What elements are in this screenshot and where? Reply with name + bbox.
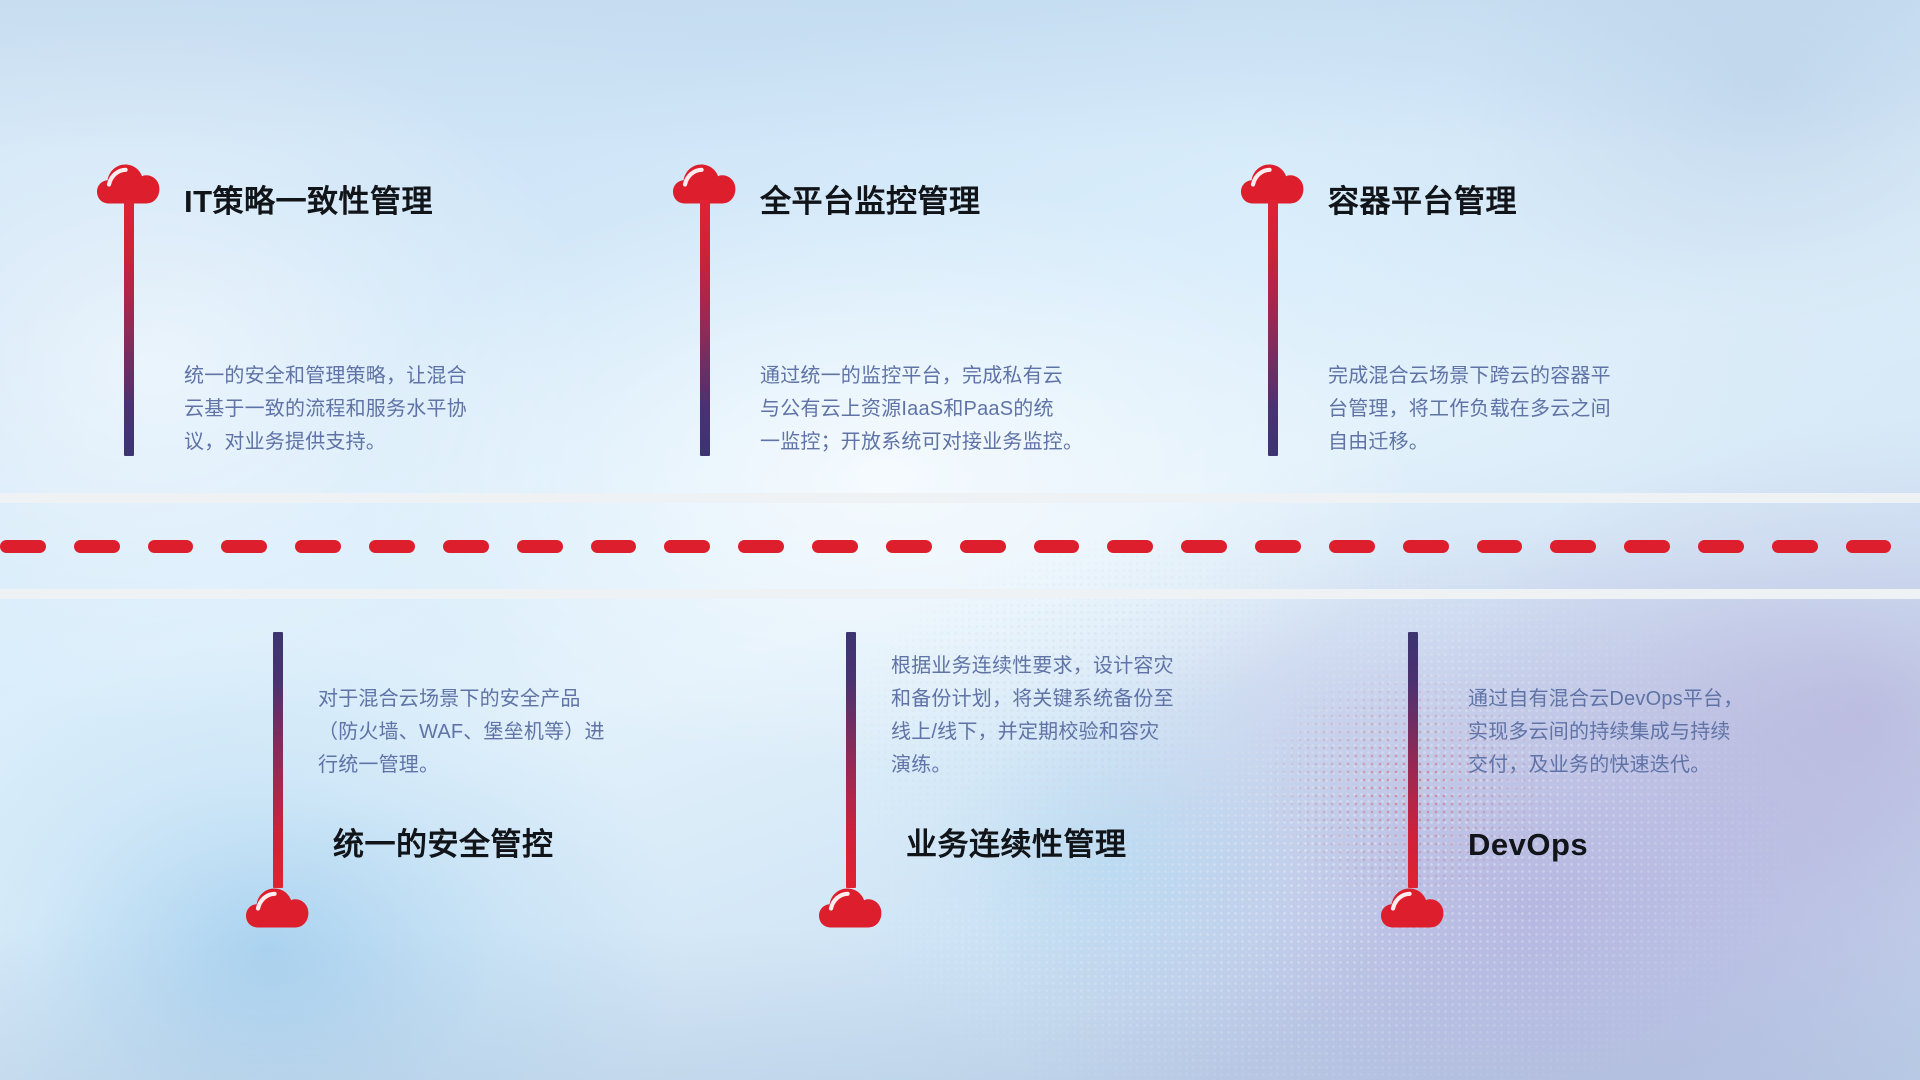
description-devops: 通过自有混合云DevOps平台， 实现多云间的持续集成与持续 交付，及业务的快速… xyxy=(1468,683,1888,782)
connector-stem xyxy=(1408,632,1418,888)
road-dash-segment xyxy=(1255,540,1301,553)
description-container-platform: 完成混合云场景下跨云的容器平 台管理，将工作负载在多云之间 自由迁移。 xyxy=(1328,360,1758,459)
description-unified-security-control: 对于混合云场景下的安全产品 （防火墙、WAF、堡垒机等）进 行统一管理。 xyxy=(318,683,758,782)
road-dash-segment xyxy=(1624,540,1670,553)
road-dash-segment xyxy=(1403,540,1449,553)
connector-stem xyxy=(124,200,134,456)
road-dash-segment xyxy=(1034,540,1080,553)
cloud-icon xyxy=(672,160,738,204)
infographic-canvas: IT策略一致性管理 统一的安全和管理策略，让混合 云基于一致的流程和服务水平协 … xyxy=(0,0,1920,1080)
road-dash-segment xyxy=(443,540,489,553)
road-dash-segment xyxy=(591,540,637,553)
road-dash-segment xyxy=(295,540,341,553)
cloud-icon xyxy=(1380,884,1446,928)
road-dash-segment xyxy=(1107,540,1153,553)
road-dash-segment xyxy=(1477,540,1523,553)
road-dash-segment xyxy=(960,540,1006,553)
description-full-platform-monitoring: 通过统一的监控平台，完成私有云 与公有云上资源IaaS和PaaS的统 一监控；开… xyxy=(760,360,1210,459)
heading-devops: DevOps xyxy=(1468,829,1588,860)
cloud-icon xyxy=(818,884,884,928)
road-dash-segment xyxy=(1181,540,1227,553)
connector-stem xyxy=(1268,200,1278,456)
road-dash-segment xyxy=(369,540,415,553)
cloud-icon xyxy=(96,160,162,204)
road-dash-segment xyxy=(1846,540,1892,553)
connector-stem xyxy=(846,632,856,888)
road-dash-segment xyxy=(148,540,194,553)
heading-full-platform-monitoring: 全平台监控管理 xyxy=(760,186,981,217)
road-dash-segment xyxy=(0,540,46,553)
road-dash-segment xyxy=(517,540,563,553)
road-dash-segment xyxy=(886,540,932,553)
description-it-policy-consistency: 统一的安全和管理策略，让混合 云基于一致的流程和服务水平协 议，对业务提供支持。 xyxy=(184,360,614,459)
heading-business-continuity: 业务连续性管理 xyxy=(906,829,1127,860)
cloud-icon xyxy=(1240,160,1306,204)
road-dashed-line xyxy=(0,540,1920,553)
road-dash-segment xyxy=(221,540,267,553)
road-edge-top xyxy=(0,493,1920,503)
heading-unified-security-control: 统一的安全管控 xyxy=(333,829,554,860)
road-dash-segment xyxy=(1772,540,1818,553)
description-business-continuity: 根据业务连续性要求，设计容灾 和备份计划，将关键系统备份至 线上/线下，并定期校… xyxy=(891,650,1321,782)
road-dash-segment xyxy=(74,540,120,553)
road-dash-segment xyxy=(1329,540,1375,553)
marker-full-platform-monitoring xyxy=(672,160,738,204)
road-dash-segment xyxy=(812,540,858,553)
heading-it-policy-consistency: IT策略一致性管理 xyxy=(184,186,433,217)
marker-it-policy-consistency xyxy=(96,160,162,204)
road-dash-segment xyxy=(1550,540,1596,553)
heading-container-platform: 容器平台管理 xyxy=(1328,186,1517,217)
cloud-icon xyxy=(245,884,311,928)
connector-stem xyxy=(273,632,283,888)
road-dash-segment xyxy=(664,540,710,553)
connector-stem xyxy=(700,200,710,456)
road-dash-segment xyxy=(1698,540,1744,553)
marker-container-platform xyxy=(1240,160,1306,204)
road-edge-bottom xyxy=(0,589,1920,599)
road-dash-segment xyxy=(738,540,784,553)
